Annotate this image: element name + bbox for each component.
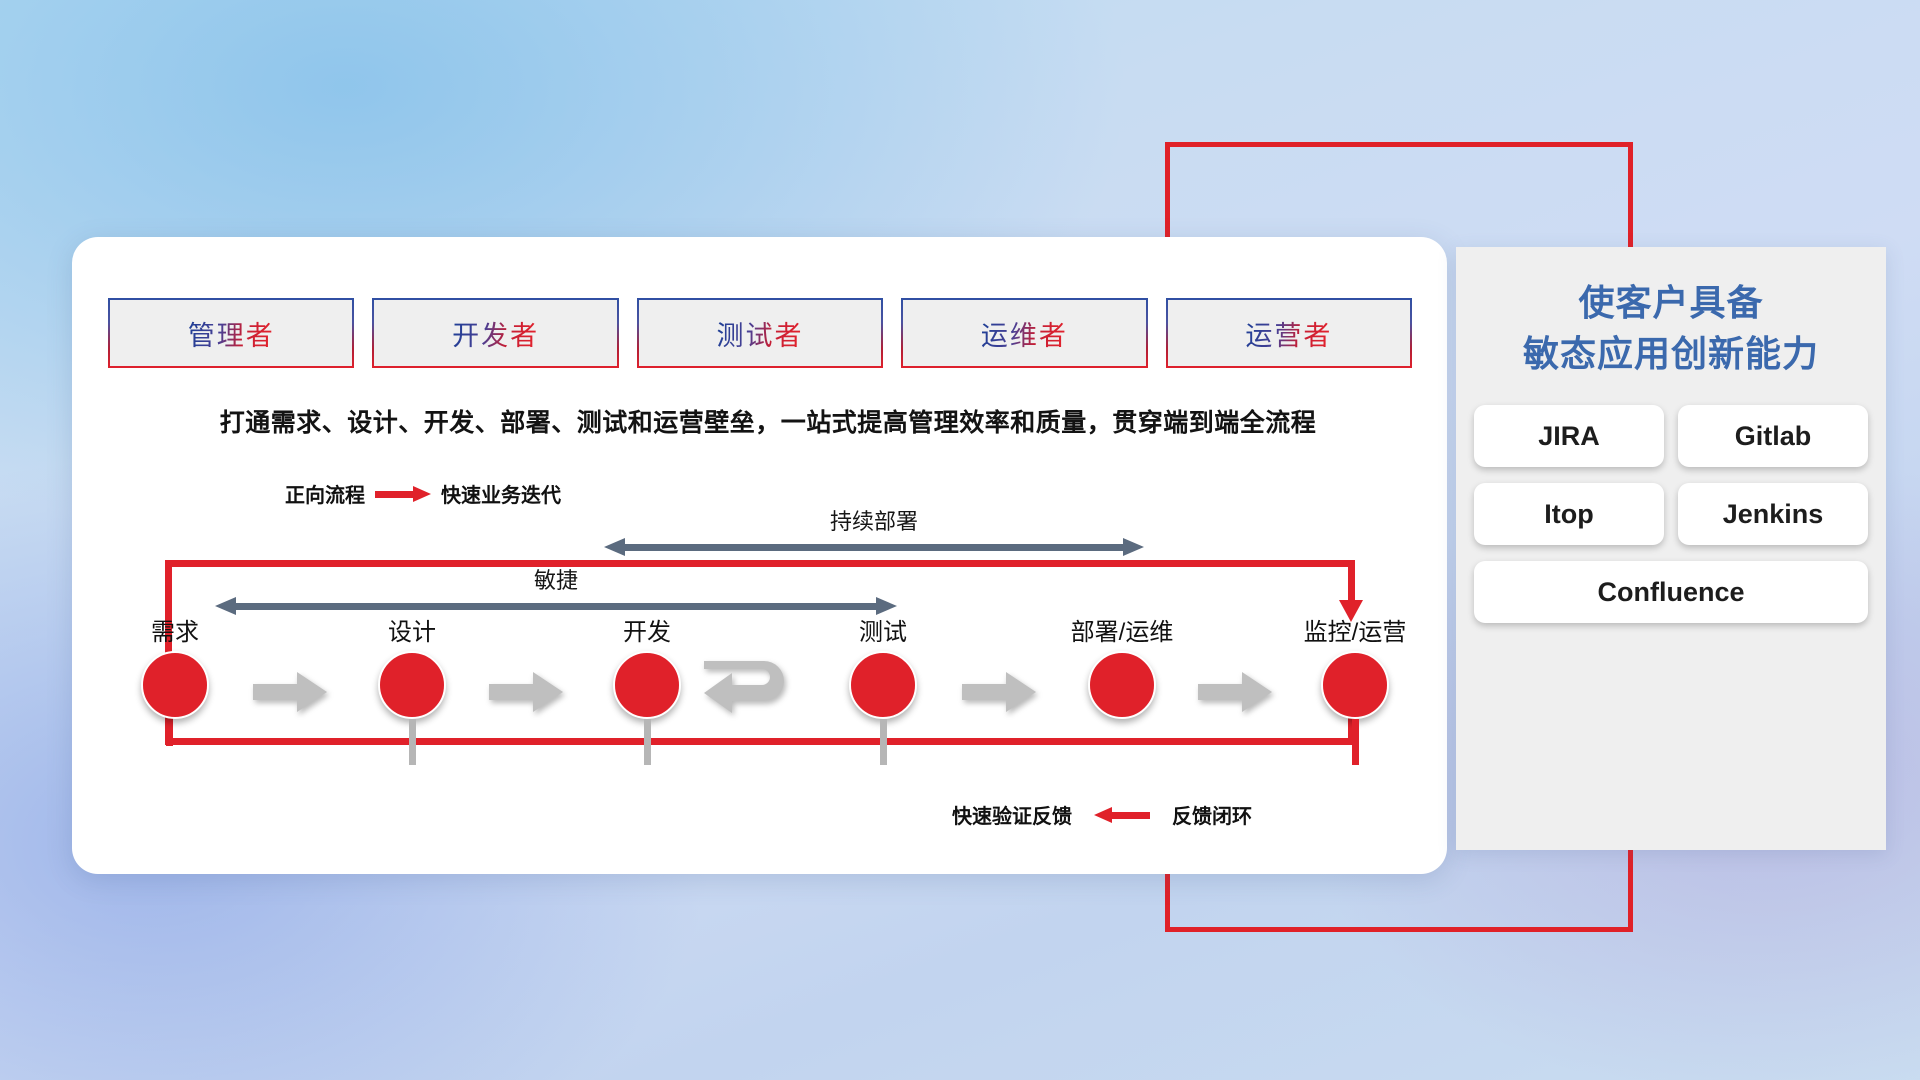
chevron-arrow-icon bbox=[1198, 672, 1272, 712]
tool-chip-gitlab[interactable]: Gitlab bbox=[1678, 405, 1868, 467]
tool-chip-jira[interactable]: JIRA bbox=[1474, 405, 1664, 467]
stage-development[interactable]: 开发 bbox=[582, 612, 712, 765]
arrow-left-icon bbox=[1094, 807, 1150, 823]
role-label: 开发者 bbox=[452, 314, 539, 353]
chevron-arrow-icon bbox=[962, 672, 1036, 712]
description-text: 打通需求、设计、开发、部署、测试和运营壁垒，一站式提高管理效率和质量，贯穿端到端… bbox=[128, 403, 1408, 439]
stage-label: 测试 bbox=[818, 612, 948, 647]
panel-title-line2: 敏态应用创新能力 bbox=[1468, 328, 1874, 379]
stage-testing[interactable]: 测试 bbox=[818, 612, 948, 765]
stage-label: 部署/运维 bbox=[1057, 612, 1187, 647]
stage-stem bbox=[644, 719, 651, 765]
tool-chip-list: JIRA Gitlab Itop Jenkins Confluence bbox=[1456, 405, 1886, 623]
stage-dot-icon bbox=[378, 651, 446, 719]
stage-requirement[interactable]: 需求 bbox=[110, 612, 240, 719]
panel-title-line1: 使客户具备 bbox=[1468, 277, 1874, 328]
stage-stem bbox=[880, 719, 887, 765]
stage-deploy-ops[interactable]: 部署/运维 bbox=[1057, 612, 1187, 719]
role-label: 运维者 bbox=[981, 314, 1068, 353]
stage-design[interactable]: 设计 bbox=[347, 612, 477, 765]
tool-chip-confluence[interactable]: Confluence bbox=[1474, 561, 1868, 623]
right-panel: 使客户具备 敏态应用创新能力 JIRA Gitlab Itop Jenkins … bbox=[1456, 247, 1886, 850]
panel-title: 使客户具备 敏态应用创新能力 bbox=[1456, 247, 1886, 379]
stage-dot-icon bbox=[141, 651, 209, 719]
span-label: 敏捷 bbox=[215, 563, 897, 595]
role-box-operator[interactable]: 运营者 bbox=[1168, 300, 1410, 366]
stage-label: 需求 bbox=[110, 612, 240, 647]
role-label: 测试者 bbox=[717, 314, 804, 353]
stage-stem bbox=[409, 719, 416, 765]
tool-chip-jenkins[interactable]: Jenkins bbox=[1678, 483, 1868, 545]
stage-label: 监控/运营 bbox=[1290, 612, 1420, 647]
stage-dot-icon bbox=[1088, 651, 1156, 719]
role-box-manager[interactable]: 管理者 bbox=[110, 300, 352, 366]
role-box-ops-engineer[interactable]: 运维者 bbox=[903, 300, 1145, 366]
stage-dot-icon bbox=[849, 651, 917, 719]
span-agile: 敏捷 bbox=[215, 563, 897, 615]
stage-dot-icon bbox=[613, 651, 681, 719]
stage-stem bbox=[1352, 719, 1359, 765]
fast-validation-label: 快速验证反馈 bbox=[952, 800, 1072, 829]
arrow-right-icon bbox=[375, 486, 431, 502]
role-boxes-row: 管理者 开发者 测试者 运维者 运营者 bbox=[110, 300, 1410, 366]
span-label: 持续部署 bbox=[604, 504, 1144, 536]
role-label: 运营者 bbox=[1245, 314, 1332, 353]
role-box-developer[interactable]: 开发者 bbox=[374, 300, 616, 366]
stage-monitor-operate[interactable]: 监控/运营 bbox=[1290, 612, 1420, 765]
span-continuous-deployment: 持续部署 bbox=[604, 504, 1144, 556]
forward-flow-legend: 正向流程 快速业务迭代 bbox=[285, 479, 561, 508]
role-label: 管理者 bbox=[188, 314, 275, 353]
tool-chip-itop[interactable]: Itop bbox=[1474, 483, 1664, 545]
u-turn-loop-icon bbox=[702, 655, 798, 727]
feedback-legend: 快速验证反馈 反馈闭环 bbox=[952, 800, 1252, 829]
fast-iteration-label: 快速业务迭代 bbox=[441, 479, 561, 508]
double-arrow-icon bbox=[604, 538, 1144, 556]
chevron-arrow-icon bbox=[489, 672, 563, 712]
forward-flow-label: 正向流程 bbox=[285, 479, 365, 508]
chevron-arrow-icon bbox=[253, 672, 327, 712]
role-box-tester[interactable]: 测试者 bbox=[639, 300, 881, 366]
stage-label: 设计 bbox=[347, 612, 477, 647]
feedback-loop-label: 反馈闭环 bbox=[1172, 800, 1252, 829]
stage-label: 开发 bbox=[582, 612, 712, 647]
stage-dot-icon bbox=[1321, 651, 1389, 719]
